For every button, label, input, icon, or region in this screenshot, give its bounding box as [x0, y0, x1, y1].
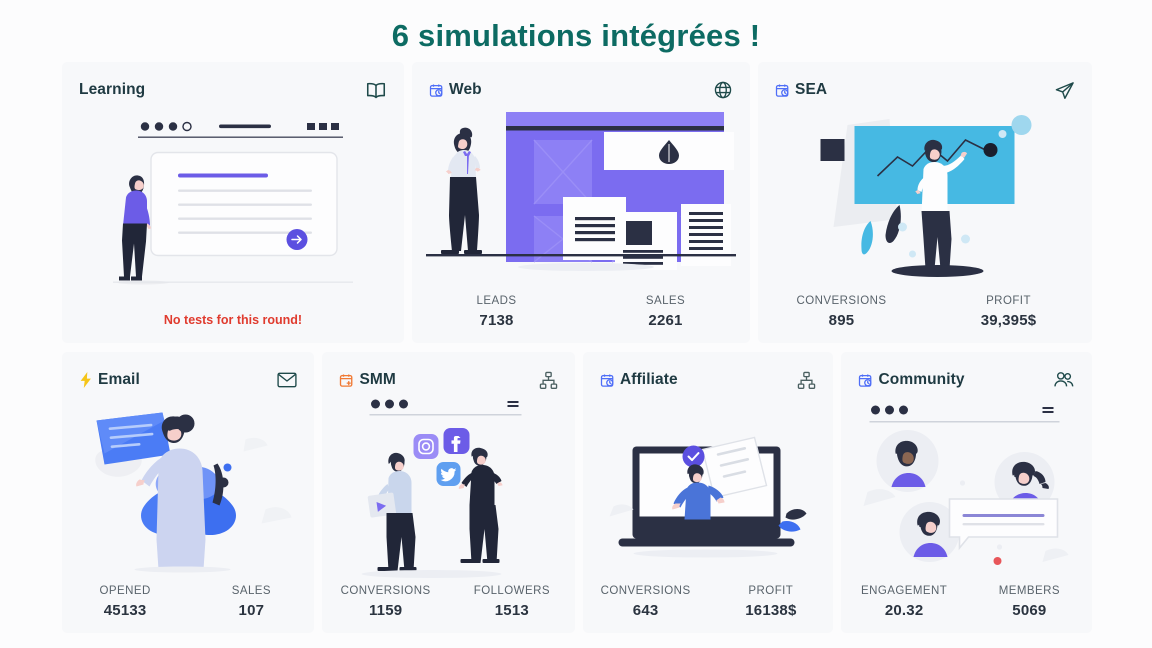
sitemap-icon[interactable]: [539, 371, 558, 390]
metric-profit: PROFIT 39,395$: [925, 295, 1092, 329]
card-header-web: Web: [412, 62, 750, 102]
illustration-email: [62, 392, 314, 585]
metric-value: 107: [188, 602, 314, 619]
card-sea[interactable]: SEA: [758, 62, 1092, 343]
metrics-affiliate: CONVERSIONS 643 PROFIT 16138$: [583, 585, 834, 633]
metrics-sea: CONVERSIONS 895 PROFIT 39,395$: [758, 295, 1092, 343]
people-group-icon[interactable]: [1053, 371, 1075, 389]
metric-label: FOLLOWERS: [449, 585, 575, 597]
calendar-clock-icon: [858, 373, 873, 388]
card-community[interactable]: Community: [841, 352, 1092, 633]
card-header-email: Email: [62, 352, 314, 392]
illustration-affiliate: [583, 392, 834, 585]
metric-value: 1513: [449, 602, 575, 619]
illustration-community: [841, 392, 1092, 585]
metric-label: CONVERSIONS: [758, 295, 925, 307]
metric-value: 45133: [62, 602, 188, 619]
card-title-web: Web: [449, 81, 482, 99]
metric-profit: PROFIT 16138$: [708, 585, 833, 619]
card-title-smm: SMM: [359, 371, 395, 389]
illustration-learning: [62, 102, 404, 313]
metrics-community: ENGAGEMENT 20.32 MEMBERS 5069: [841, 585, 1092, 633]
metric-leads: LEADS 7138: [412, 295, 581, 329]
metric-value: 895: [758, 312, 925, 329]
metric-sales: SALES 2261: [581, 295, 750, 329]
metric-value: 16138$: [708, 602, 833, 619]
cards-row-bottom: Email: [62, 352, 1092, 633]
card-title-sea: SEA: [795, 81, 827, 99]
metrics-web: LEADS 7138 SALES 2261: [412, 295, 750, 343]
simulations-dashboard: 6 simulations intégrées ! Learning: [0, 0, 1152, 648]
metric-label: MEMBERS: [967, 585, 1092, 597]
lightning-bolt-icon: [79, 372, 93, 388]
card-email[interactable]: Email: [62, 352, 314, 633]
metric-label: PROFIT: [708, 585, 833, 597]
card-title-email: Email: [98, 371, 140, 389]
illustration-sea: [758, 102, 1092, 295]
globe-icon[interactable]: [713, 80, 733, 100]
metric-label: OPENED: [62, 585, 188, 597]
calendar-clock-icon: [775, 83, 790, 98]
metrics-email: OPENED 45133 SALES 107: [62, 585, 314, 633]
paper-plane-icon[interactable]: [1054, 80, 1075, 101]
metric-conversions: CONVERSIONS 643: [583, 585, 708, 619]
card-header-learning: Learning: [62, 62, 404, 102]
illustration-smm: [322, 392, 574, 585]
metric-value: 1159: [322, 602, 448, 619]
card-header-affiliate: Affiliate: [583, 352, 834, 392]
card-title-community: Community: [878, 371, 964, 389]
cards-grid: Learning: [62, 62, 1092, 633]
sitemap-icon[interactable]: [797, 371, 816, 390]
cards-row-top: Learning: [62, 62, 1092, 343]
metric-label: SALES: [188, 585, 314, 597]
metric-conversions: CONVERSIONS 895: [758, 295, 925, 329]
metric-members: MEMBERS 5069: [967, 585, 1092, 619]
card-header-smm: SMM: [322, 352, 574, 392]
page-title: 6 simulations intégrées !: [0, 0, 1152, 58]
metric-value: 39,395$: [925, 312, 1092, 329]
card-title-learning: Learning: [79, 81, 145, 99]
card-title-affiliate: Affiliate: [620, 371, 678, 389]
metric-label: LEADS: [412, 295, 581, 307]
metric-label: SALES: [581, 295, 750, 307]
learning-notice: No tests for this round!: [62, 313, 404, 343]
metric-value: 2261: [581, 312, 750, 329]
card-header-sea: SEA: [758, 62, 1092, 102]
metric-value: 7138: [412, 312, 581, 329]
metrics-smm: CONVERSIONS 1159 FOLLOWERS 1513: [322, 585, 574, 633]
card-header-community: Community: [841, 352, 1092, 392]
card-web[interactable]: Web: [412, 62, 750, 343]
metric-opened: OPENED 45133: [62, 585, 188, 619]
metric-value: 5069: [967, 602, 1092, 619]
metric-engagement: ENGAGEMENT 20.32: [841, 585, 966, 619]
metric-value: 643: [583, 602, 708, 619]
metric-label: CONVERSIONS: [322, 585, 448, 597]
calendar-clock-icon: [600, 373, 615, 388]
card-smm[interactable]: SMM: [322, 352, 574, 633]
envelope-icon[interactable]: [277, 372, 297, 388]
metric-label: ENGAGEMENT: [841, 585, 966, 597]
illustration-web: [412, 102, 750, 295]
metric-label: CONVERSIONS: [583, 585, 708, 597]
metric-conversions: CONVERSIONS 1159: [322, 585, 448, 619]
card-learning[interactable]: Learning: [62, 62, 404, 343]
metric-value: 20.32: [841, 602, 966, 619]
card-affiliate[interactable]: Affiliate: [583, 352, 834, 633]
calendar-plus-icon: [339, 373, 354, 388]
metric-followers: FOLLOWERS 1513: [449, 585, 575, 619]
book-icon[interactable]: [365, 81, 387, 100]
calendar-clock-icon: [429, 83, 444, 98]
metric-label: PROFIT: [925, 295, 1092, 307]
metric-sales: SALES 107: [188, 585, 314, 619]
